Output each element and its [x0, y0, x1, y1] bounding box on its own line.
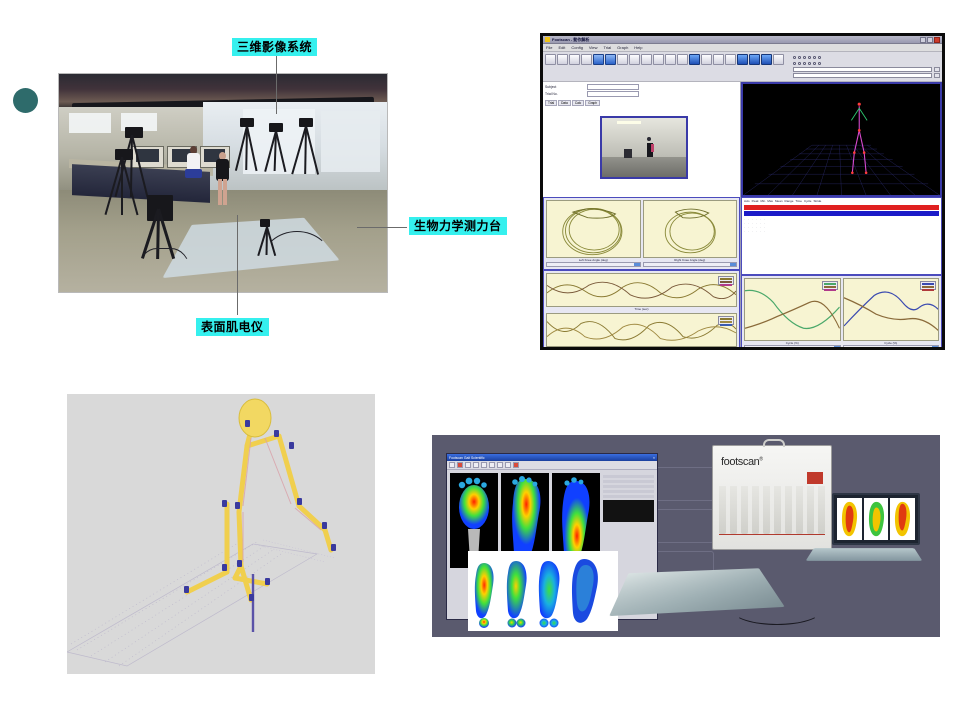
waveform-bottom-legend: [718, 316, 734, 325]
three-d-subject-skeleton: [743, 84, 940, 195]
toolbar-icon-grid[interactable]: [713, 54, 724, 65]
wall-panel-far-right: [321, 111, 380, 172]
parameter-line: [603, 500, 654, 522]
toolbar-icon-new[interactable]: [545, 54, 556, 65]
footscan-toolbar-icon-3[interactable]: [465, 462, 471, 468]
parameter-line: [603, 475, 654, 478]
left-charts-column: Left Knee Angle (deg): [543, 197, 741, 350]
footscan-toolbar-icon-7[interactable]: [497, 462, 503, 468]
menu-item-trial[interactable]: Trial: [604, 45, 612, 50]
parameter-line: [603, 490, 654, 493]
table-col-time: Time: [795, 199, 802, 203]
path-input-1[interactable]: [793, 67, 932, 72]
footscan-software-title: Footscan Gait Scientific: [449, 456, 485, 460]
table-col-max: Max: [767, 199, 773, 203]
parameter-line: [603, 495, 654, 498]
software-title-bar[interactable]: Footscan - 動作解析: [543, 36, 942, 44]
toolbar-path-row-1[interactable]: [793, 66, 940, 72]
field-label-subject: Subject: [545, 85, 585, 89]
table-row-highlight-red: [744, 205, 939, 210]
waveform-curve-bottom: [547, 314, 736, 346]
leader-line-emg: [237, 215, 238, 315]
parameter-line: [603, 480, 654, 483]
video-hallway: [602, 118, 686, 157]
toolbar-icon-cut[interactable]: [653, 54, 664, 65]
table-col-cycle: Cycle: [804, 199, 812, 203]
menu-item-help[interactable]: Help: [634, 45, 642, 50]
cycle-right-legend: [920, 281, 936, 290]
footscan-toolbar-icon-2[interactable]: [457, 462, 463, 468]
close-button[interactable]: [934, 37, 940, 43]
laptop-base: [806, 548, 923, 561]
waveform-plot-bottom[interactable]: [546, 313, 737, 347]
table-col-range: Range: [785, 199, 794, 203]
cycle-plots-panel[interactable]: Cycle (%) Cycle (%): [741, 275, 942, 350]
tab-graph[interactable]: Graph: [585, 100, 600, 106]
floor-cable-2: [138, 248, 190, 270]
table-col-axis: Axis: [744, 199, 750, 203]
footscan-close-icon[interactable]: ×: [653, 456, 655, 460]
toolbar-icon-group[interactable]: [545, 54, 790, 65]
browse-button-2[interactable]: [934, 73, 940, 78]
butterfly-plot-left[interactable]: [546, 200, 641, 258]
waveform-plot-top[interactable]: [546, 273, 737, 307]
butterfly-left-scrollbar[interactable]: [546, 262, 641, 267]
gait-analysis-software-window[interactable]: Footscan - 動作解析 File Edit Config View Tr…: [540, 33, 945, 350]
butterfly-plots-panel[interactable]: Left Knee Angle (deg): [543, 197, 740, 270]
path-input-2[interactable]: [793, 73, 932, 78]
minimize-button[interactable]: [920, 37, 926, 43]
waveform-bottom-xlabel: Time (sec): [546, 347, 737, 350]
video-pane[interactable]: Subject Trial No. Trial Data Calc Graph: [543, 82, 741, 197]
annotation-biomechanical-force-plate: 生物力学测力台: [409, 217, 507, 235]
toolbar-icon-copy[interactable]: [629, 54, 640, 65]
field-input-trial[interactable]: [587, 91, 639, 97]
bullet-dot: [13, 88, 38, 113]
toolbar-icon-chart[interactable]: [617, 54, 628, 65]
tab-calc[interactable]: Calc: [572, 100, 584, 106]
cycle-plot-right[interactable]: [843, 278, 940, 341]
toolbar-icon-arrow-down[interactable]: [761, 54, 772, 65]
laptop-footprint-1: [837, 498, 862, 540]
motion-capture-lab-photo: [58, 73, 388, 293]
radio-option-9[interactable]: [803, 62, 806, 65]
toolbar-icon-print[interactable]: [581, 54, 592, 65]
cycle-left-legend: [822, 281, 838, 290]
video-ceiling-light: [617, 121, 641, 124]
pressure-frame-2: [507, 561, 527, 628]
cycle-plot-left[interactable]: [744, 278, 841, 341]
three-d-stick-figure-model: [67, 394, 375, 674]
annotation-three-d-imaging-system: 三维影像系统: [232, 38, 317, 56]
toolbar-options-panel[interactable]: [790, 54, 940, 78]
menu-item-graph[interactable]: Graph: [617, 45, 628, 50]
radio-option-8[interactable]: [798, 62, 801, 65]
laptop-screen: [832, 493, 920, 545]
table-row-highlight-blue: [744, 211, 939, 216]
leader-line-force-plate: [357, 227, 407, 228]
pressure-frame-1: [475, 563, 494, 628]
pressure-frame-4: [572, 559, 598, 623]
toolbar-icon-arrow-left[interactable]: [737, 54, 748, 65]
results-table-header: Axis Peak Min Max Mean Range Time Cycle …: [742, 198, 941, 204]
subject-fields[interactable]: Subject Trial No.: [543, 82, 740, 100]
toolbar-icon-settings[interactable]: [773, 54, 784, 65]
menu-item-file[interactable]: File: [546, 45, 552, 50]
annotation-surface-emg: 表面肌电仪: [196, 318, 269, 336]
radio-option-12[interactable]: [818, 62, 821, 65]
footscan-toolbar-icon-9[interactable]: [513, 462, 519, 468]
footscan-brand-label: footscan®: [721, 456, 763, 468]
software-charts-area: Left Knee Angle (deg): [543, 197, 942, 350]
butterfly-plot-right[interactable]: [643, 200, 738, 258]
skeleton-head: [239, 399, 271, 437]
footscan-toolbar[interactable]: [447, 461, 657, 470]
video-object: [624, 149, 632, 158]
table-col-stride: Stride: [813, 199, 821, 203]
skeleton-soft-tissue: [243, 438, 321, 562]
leader-line-imaging: [276, 56, 277, 114]
gait-path-point-cloud: [67, 540, 317, 666]
waveform-curve-top: [547, 274, 736, 306]
video-subject-limb: [651, 144, 654, 152]
toolbar-icon-zoom[interactable]: [701, 54, 712, 65]
table-col-min: Min: [761, 199, 766, 203]
butterfly-curve-left: [547, 201, 640, 257]
footscan-toolbar-icon-8[interactable]: [505, 462, 511, 468]
skeleton-segments: [187, 422, 331, 600]
right-charts-column: Axis Peak Min Max Mean Range Time Cycle …: [741, 197, 942, 350]
toolbar-path-row-2[interactable]: [793, 72, 940, 78]
toolbar-icon-filter[interactable]: [725, 54, 736, 65]
camera-video-preview[interactable]: [600, 116, 688, 179]
slide-canvas: 三维影像系统 生物力学测力台 表面肌电仪 Footscan - 動作解析 Fil…: [0, 0, 960, 720]
menu-item-config[interactable]: Config: [571, 45, 583, 50]
window-controls[interactable]: [920, 37, 940, 43]
software-main-body: Subject Trial No. Trial Data Calc Graph: [543, 82, 942, 197]
field-label-trial: Trial No.: [545, 92, 585, 96]
case-handle: [763, 439, 785, 447]
software-menu-bar[interactable]: File Edit Config View Trial Graph Help: [543, 44, 942, 52]
pressure-frames-overlay: [468, 551, 618, 631]
parameter-line: [603, 485, 654, 488]
tab-trial[interactable]: Trial: [545, 100, 557, 106]
waveform-top-legend: [718, 276, 734, 285]
radio-option-10[interactable]: [808, 62, 811, 65]
footscan-toolbar-icon-1[interactable]: [449, 462, 455, 468]
results-table-panel[interactable]: Axis Peak Min Max Mean Range Time Cycle …: [741, 197, 942, 275]
toolbar-icon-capture[interactable]: [593, 54, 604, 65]
three-d-skeleton-view[interactable]: [741, 82, 942, 197]
butterfly-right-scrollbar[interactable]: [643, 262, 738, 267]
radio-option-2[interactable]: [798, 56, 801, 59]
radio-option-11[interactable]: [813, 62, 816, 65]
cycle-right-scrollbar[interactable]: [843, 345, 940, 350]
menu-item-edit[interactable]: Edit: [558, 45, 565, 50]
table-col-peak: Peak: [752, 199, 759, 203]
data-tabs[interactable]: Trial Data Calc Graph: [543, 100, 740, 106]
radio-option-7[interactable]: [793, 62, 796, 65]
footscan-toolbar-icon-6[interactable]: [489, 462, 495, 468]
app-icon: [545, 37, 550, 42]
cycle-left-scrollbar[interactable]: [744, 345, 841, 350]
browse-button-1[interactable]: [934, 67, 940, 72]
field-input-subject[interactable]: [587, 84, 639, 90]
tab-data[interactable]: Data: [558, 100, 571, 106]
field-row-trial[interactable]: Trial No.: [545, 91, 738, 97]
skeleton-figure-svg: [67, 394, 375, 674]
laptop-footprint-2: [864, 498, 889, 540]
toolbar-icon-arrow-up[interactable]: [749, 54, 760, 65]
table-col-mean: Mean: [775, 199, 783, 203]
waveform-plots-panel[interactable]: Time (sec) Time (sec): [543, 270, 740, 351]
software-window-title: Footscan - 動作解析: [552, 37, 920, 43]
radio-option-6[interactable]: [818, 56, 821, 59]
analysis-laptop: [810, 493, 922, 573]
footscan-pressure-system: Footscan Gait Scientific ×: [432, 435, 940, 637]
footscan-toolbar-icon-5[interactable]: [481, 462, 487, 468]
toolbar-icon-play[interactable]: [605, 54, 616, 65]
wall-window-1: [69, 113, 112, 133]
pressure-frame-sequence: [470, 553, 616, 629]
radio-option-3[interactable]: [803, 56, 806, 59]
maximize-button[interactable]: [927, 37, 933, 43]
toolbar-icon-save[interactable]: [569, 54, 580, 65]
reflective-markers: [184, 420, 336, 601]
table-row[interactable]: ······: [744, 229, 939, 233]
toolbar-icon-open[interactable]: [557, 54, 568, 65]
radio-option-1[interactable]: [793, 56, 796, 59]
connection-cable: [732, 595, 822, 625]
laptop-footprint-3: [890, 498, 915, 540]
radio-option-5[interactable]: [813, 56, 816, 59]
butterfly-curve-right: [644, 201, 737, 257]
toolbar-icon-record[interactable]: [689, 54, 700, 65]
footscan-title-bar[interactable]: Footscan Gait Scientific ×: [447, 454, 657, 461]
software-toolbar[interactable]: [543, 52, 942, 82]
case-logo-mark: [807, 472, 823, 484]
pressure-frame-3: [539, 561, 560, 628]
toolbar-icon-redo[interactable]: [677, 54, 688, 65]
radio-option-4[interactable]: [808, 56, 811, 59]
results-table-body[interactable]: ······ ······ ······ ······: [742, 217, 941, 233]
toolbar-icon-paste[interactable]: [641, 54, 652, 65]
background-slot-2: [654, 509, 714, 543]
waveform-top-xlabel: Time (sec): [546, 307, 737, 311]
background-slot-1: [654, 467, 714, 501]
menu-item-view[interactable]: View: [589, 45, 598, 50]
gait-path-outline: [253, 540, 335, 562]
field-row-subject[interactable]: Subject: [545, 84, 738, 90]
toolbar-icon-undo[interactable]: [665, 54, 676, 65]
footscan-toolbar-icon-4[interactable]: [473, 462, 479, 468]
